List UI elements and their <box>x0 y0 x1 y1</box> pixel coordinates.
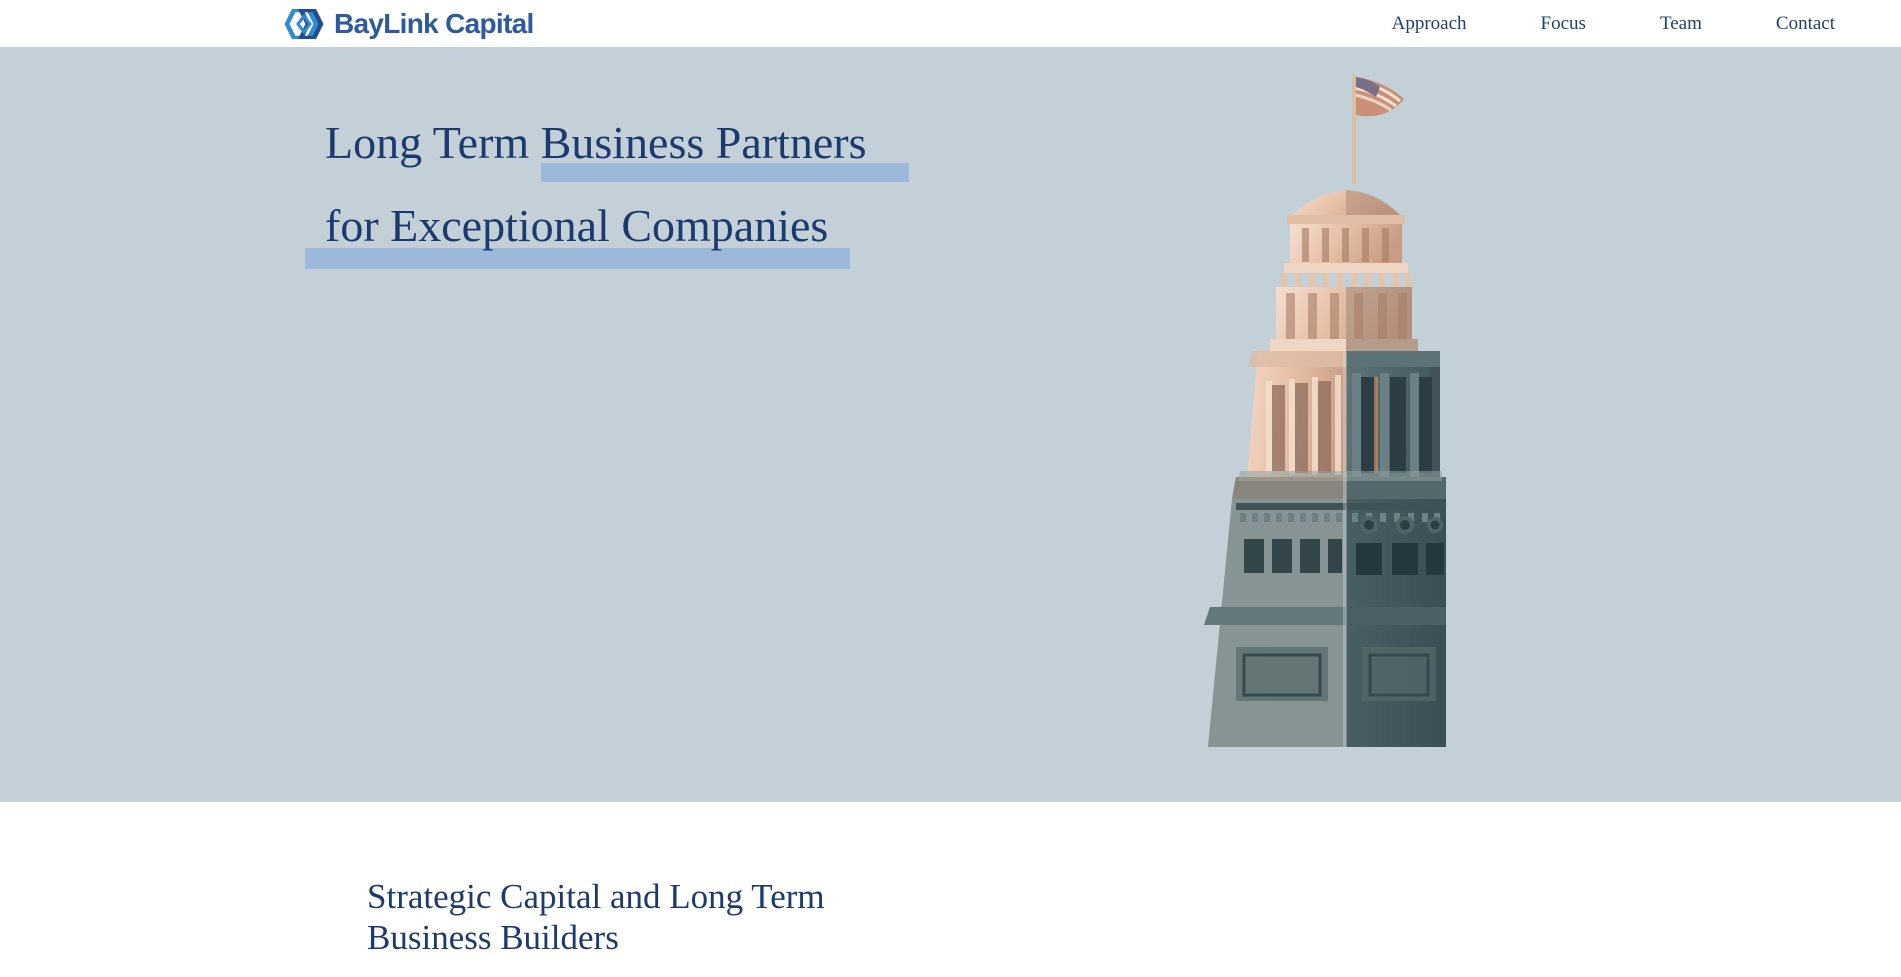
nav-item-focus[interactable]: Focus <box>1537 8 1590 39</box>
nav-item-contact[interactable]: Contact <box>1772 8 1839 39</box>
hero-headline-line-1: Long Term Business Partners <box>325 120 1085 166</box>
nav-item-approach[interactable]: Approach <box>1388 8 1471 39</box>
hexagon-link-logo-icon <box>283 9 325 39</box>
hero-line-2-plain: for <box>325 200 390 251</box>
brand-wordmark: BayLink Capital <box>334 10 534 38</box>
hero-image-ferry-building-tower <box>1140 47 1721 802</box>
intro-heading: Strategic Capital and Long Term Business… <box>367 877 825 959</box>
main-navigation: Approach Focus Team Contact <box>1388 0 1839 47</box>
nav-item-team[interactable]: Team <box>1656 8 1706 39</box>
hero-headline-line-2: for Exceptional Companies <box>325 203 1085 249</box>
hero-line-1-plain: Long Term <box>325 117 541 168</box>
hero-line-2-highlighted: Exceptional Companies <box>390 203 828 249</box>
intro-section: Strategic Capital and Long Term Business… <box>0 802 1901 977</box>
hero-line-1-highlighted: Business Partners <box>541 120 867 166</box>
brand-logo-link[interactable]: BayLink Capital <box>283 0 534 47</box>
hero-headline: Long Term Business Partners for Exceptio… <box>325 120 1085 249</box>
site-header: BayLink Capital Approach Focus Team Cont… <box>0 0 1901 47</box>
hero-section: Long Term Business Partners for Exceptio… <box>0 47 1901 802</box>
